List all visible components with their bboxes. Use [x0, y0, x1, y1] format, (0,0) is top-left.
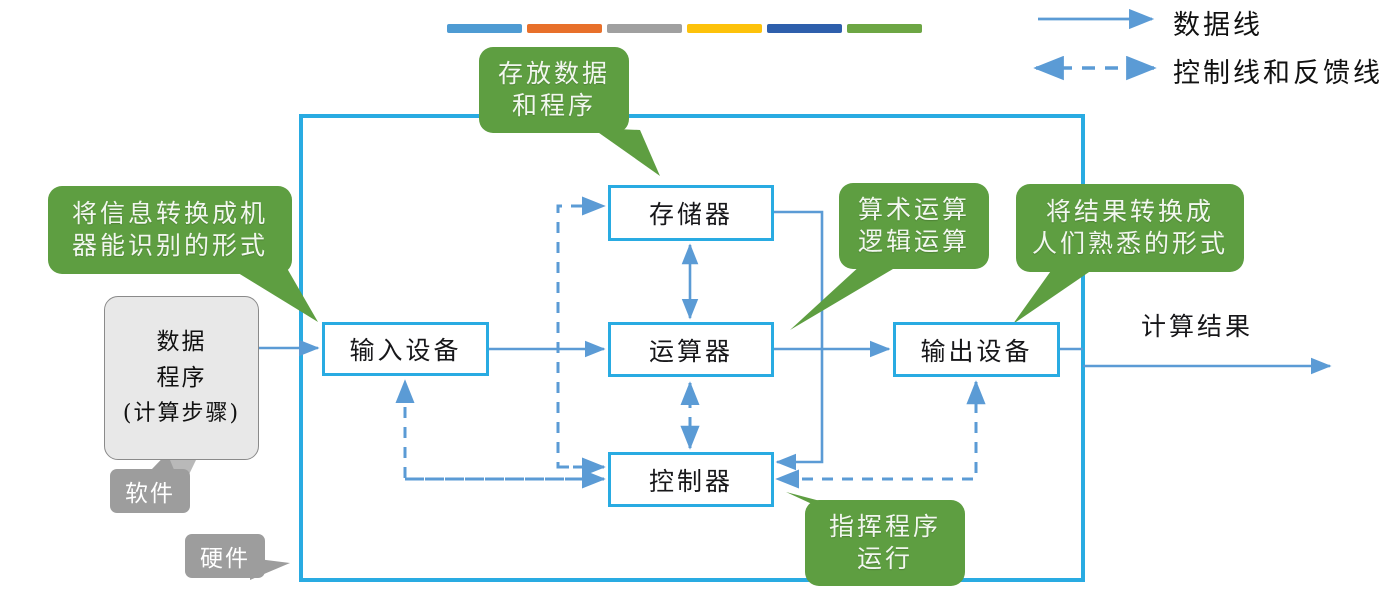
callout-alu-line2: 逻辑运算 — [858, 226, 970, 258]
source-data-box: 数据 程序 (计算步骤) — [104, 296, 259, 460]
callout-controller-line1: 指挥程序 — [829, 511, 941, 543]
callout-input-line2: 器能识别的形式 — [72, 230, 268, 262]
legend-label-data-line: 数据线 — [1173, 3, 1263, 42]
callout-alu-note: 算术运算 逻辑运算 — [839, 183, 989, 269]
callout-output-line2: 人们熟悉的形式 — [1032, 228, 1228, 260]
callout-controller-line2: 运行 — [857, 543, 913, 575]
legend-label-control-line: 控制线和反馈线 — [1173, 51, 1383, 90]
callout-output-note: 将结果转换成 人们熟悉的形式 — [1016, 184, 1244, 272]
tag-hardware: 硬件 — [185, 534, 265, 578]
callout-storage-line1: 存放数据 — [498, 58, 610, 90]
callout-storage-line2: 和程序 — [512, 90, 596, 122]
node-output-device[interactable]: 输出设备 — [893, 322, 1060, 377]
source-line-program: 程序 — [157, 361, 207, 397]
source-line-steps: (计算步骤) — [123, 397, 240, 431]
diagram-canvas: 数据 程序 (计算步骤) 存储器 输入设备 运算器 输出设备 控制器 存放数据 … — [0, 0, 1391, 611]
callout-controller-note: 指挥程序 运行 — [805, 500, 965, 586]
callout-storage-note: 存放数据 和程序 — [479, 47, 629, 133]
callout-alu-line1: 算术运算 — [858, 194, 970, 226]
tag-software: 软件 — [110, 469, 190, 513]
source-line-data: 数据 — [157, 325, 207, 361]
node-input-device[interactable]: 输入设备 — [322, 322, 489, 376]
node-controller[interactable]: 控制器 — [608, 452, 774, 507]
node-alu[interactable]: 运算器 — [608, 322, 774, 377]
callout-output-line1: 将结果转换成 — [1046, 196, 1214, 228]
node-storage[interactable]: 存储器 — [608, 185, 774, 241]
callout-input-line1: 将信息转换成机 — [72, 198, 268, 230]
label-calculation-result: 计算结果 — [1141, 307, 1253, 343]
callout-input-note: 将信息转换成机 器能识别的形式 — [48, 186, 292, 274]
